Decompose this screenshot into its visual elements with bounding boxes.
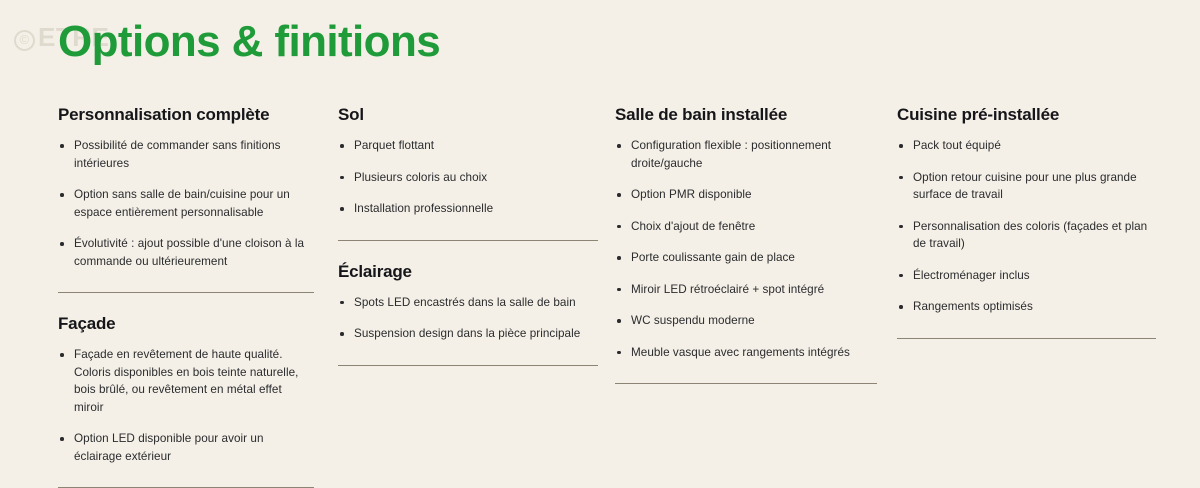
column-personnalisation: Personnalisation complètePossibilité de … <box>58 104 314 488</box>
content-group: FaçadeFaçade en revêtement de haute qual… <box>58 313 314 465</box>
list-item: Option sans salle de bain/cuisine pour u… <box>58 186 314 221</box>
list-item: Façade en revêtement de haute qualité. C… <box>58 346 314 416</box>
feature-list: Parquet flottantPlusieurs coloris au cho… <box>338 137 598 218</box>
list-item: Possibilité de commander sans finitions … <box>58 137 314 172</box>
page-root: ©ETRE Options & finitions Personnalisati… <box>0 0 1200 447</box>
list-item: Personnalisation des coloris (façades et… <box>897 218 1156 253</box>
feature-list: Pack tout équipéOption retour cuisine po… <box>897 137 1156 316</box>
section-divider <box>338 240 598 241</box>
list-item: Rangements optimisés <box>897 298 1156 316</box>
page-title: Options & finitions <box>58 12 440 72</box>
list-item: WC suspendu moderne <box>615 312 877 330</box>
list-item: Porte coulissante gain de place <box>615 249 877 267</box>
group-heading: Salle de bain installée <box>615 104 877 126</box>
group-heading: Cuisine pré-installée <box>897 104 1156 126</box>
list-item: Installation professionnelle <box>338 200 598 218</box>
feature-list: Possibilité de commander sans finitions … <box>58 137 314 270</box>
content-group: Salle de bain installéeConfiguration fle… <box>615 104 877 361</box>
copyright-icon: © <box>14 30 35 51</box>
list-item: Miroir LED rétroéclairé + spot intégré <box>615 281 877 299</box>
list-item: Parquet flottant <box>338 137 598 155</box>
group-heading: Éclairage <box>338 261 598 283</box>
list-item: Spots LED encastrés dans la salle de bai… <box>338 294 598 312</box>
list-item: Électroménager inclus <box>897 267 1156 285</box>
section-divider <box>58 292 314 293</box>
section-divider <box>615 383 877 384</box>
content-group: Cuisine pré-installéePack tout équipéOpt… <box>897 104 1156 316</box>
list-item: Option PMR disponible <box>615 186 877 204</box>
list-item: Option LED disponible pour avoir un écla… <box>58 430 314 465</box>
list-item: Plusieurs coloris au choix <box>338 169 598 187</box>
list-item: Choix d'ajout de fenêtre <box>615 218 877 236</box>
list-item: Pack tout équipé <box>897 137 1156 155</box>
list-item: Meuble vasque avec rangements intégrés <box>615 344 877 362</box>
group-heading: Sol <box>338 104 598 126</box>
content-group: SolParquet flottantPlusieurs coloris au … <box>338 104 598 218</box>
group-heading: Façade <box>58 313 314 335</box>
section-divider <box>897 338 1156 339</box>
group-heading: Personnalisation complète <box>58 104 314 126</box>
column-cuisine: Cuisine pré-installéePack tout équipéOpt… <box>897 104 1156 339</box>
list-item: Évolutivité : ajout possible d'une clois… <box>58 235 314 270</box>
list-item: Configuration flexible : positionnement … <box>615 137 877 172</box>
section-divider <box>338 365 598 366</box>
list-item: Option retour cuisine pour une plus gran… <box>897 169 1156 204</box>
column-sol-eclairage: SolParquet flottantPlusieurs coloris au … <box>338 104 598 366</box>
content-group: ÉclairageSpots LED encastrés dans la sal… <box>338 261 598 343</box>
content-group: Personnalisation complètePossibilité de … <box>58 104 314 270</box>
feature-list: Configuration flexible : positionnement … <box>615 137 877 361</box>
list-item: Suspension design dans la pièce principa… <box>338 325 598 343</box>
feature-list: Spots LED encastrés dans la salle de bai… <box>338 294 598 343</box>
feature-list: Façade en revêtement de haute qualité. C… <box>58 346 314 465</box>
column-salle-de-bain: Salle de bain installéeConfiguration fle… <box>615 104 877 384</box>
